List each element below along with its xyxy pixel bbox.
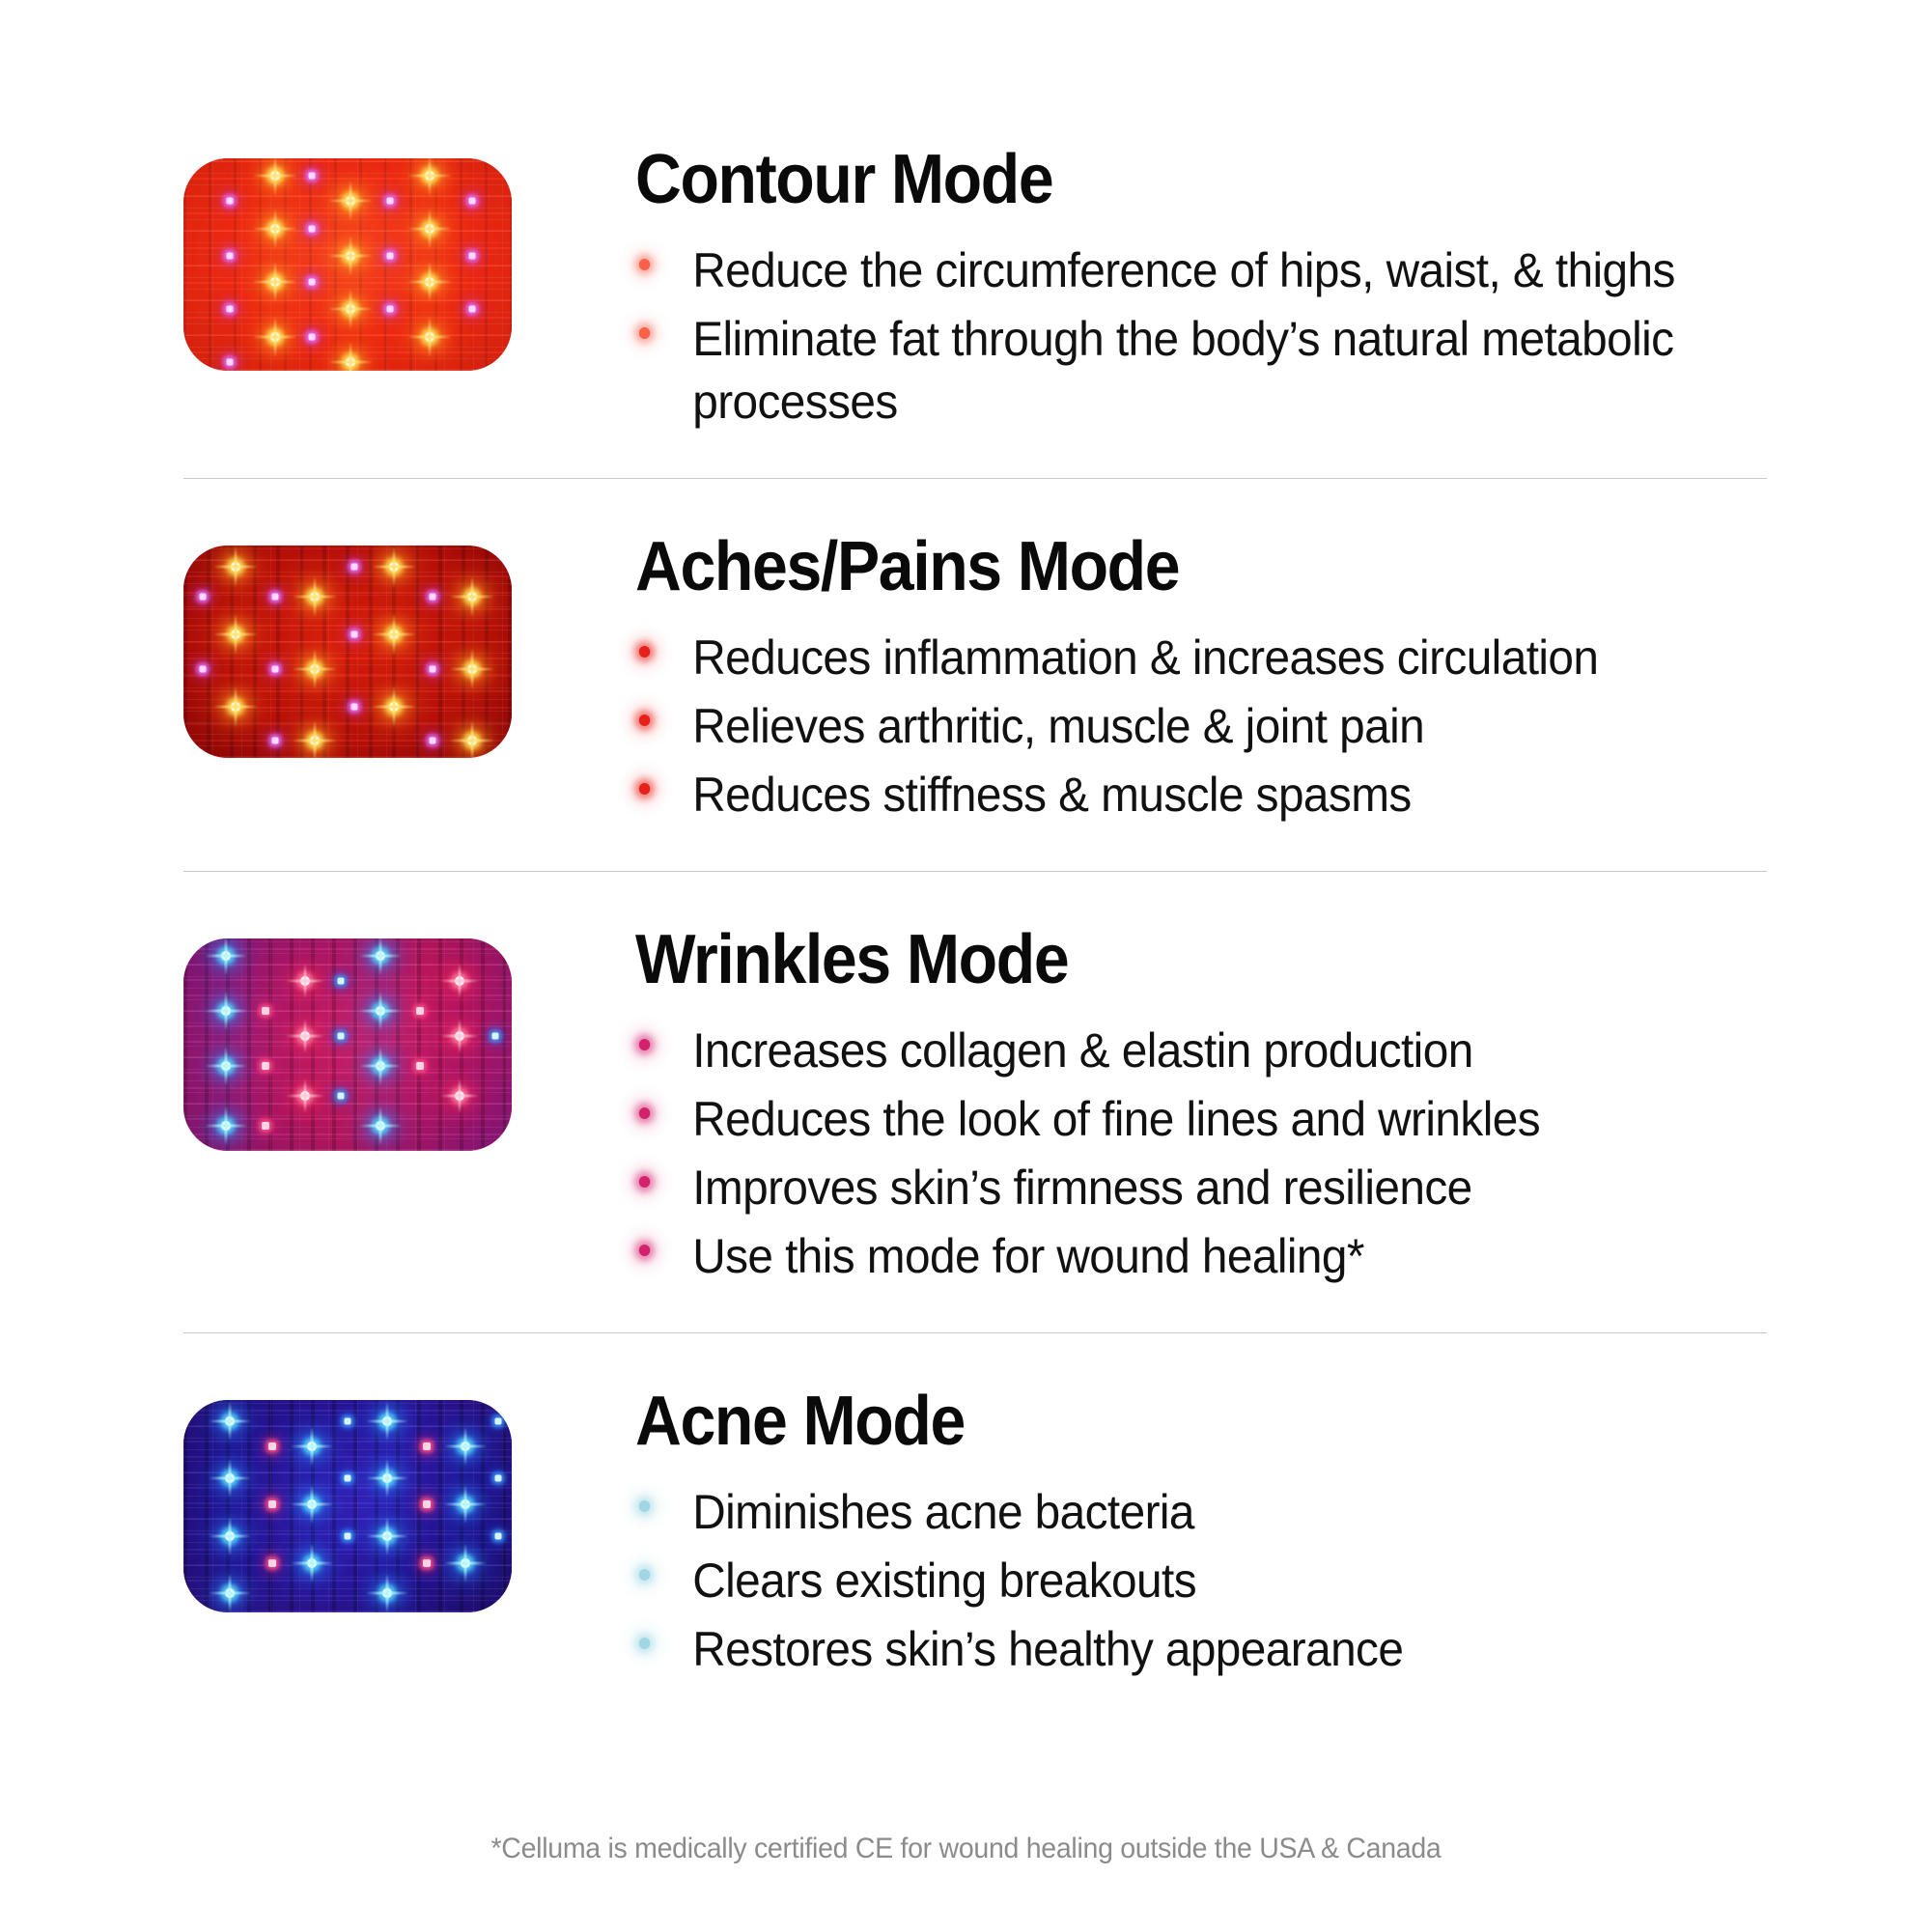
led-star-icon [300, 976, 310, 986]
panel-led-grid [183, 1400, 512, 1612]
led-star-icon [382, 1416, 392, 1426]
list-item-label: Use this mode for wound healing* [692, 1229, 1364, 1283]
bullet-dot-icon [639, 1245, 650, 1256]
bullet-dot-icon [639, 1638, 650, 1649]
led-star-icon [425, 171, 434, 181]
led-dot-icon [469, 306, 476, 313]
list-item: Reduces inflammation & increases circula… [635, 627, 1716, 689]
led-star-icon [376, 1121, 385, 1131]
aches-thumbnail-wrap [183, 532, 521, 758]
led-star-icon [300, 1091, 310, 1101]
list-item-label: Reduces stiffness & muscle spasms [692, 768, 1412, 822]
bullet-dot-icon [639, 1039, 650, 1050]
led-star-icon [346, 357, 355, 367]
led-dot-icon [262, 1062, 269, 1070]
led-dot-icon [268, 1500, 276, 1508]
list-item-label: Increases collagen & elastin production [692, 1023, 1472, 1078]
led-dot-icon [262, 1122, 269, 1130]
led-dot-icon [495, 1532, 502, 1539]
led-dot-icon [268, 1559, 276, 1567]
led-dot-icon [495, 1418, 502, 1425]
bullet-dot-icon [639, 327, 650, 339]
led-star-icon [389, 562, 399, 572]
led-star-icon [389, 702, 399, 712]
panel-led-grid [183, 158, 512, 371]
led-star-icon [382, 1588, 392, 1598]
list-item: Clears existing breakouts [635, 1550, 1716, 1612]
led-dot-icon [416, 1007, 424, 1015]
bullet-dot-icon [639, 1569, 650, 1581]
led-star-icon [270, 224, 280, 234]
mode-section-acne: Acne Mode Diminishes acne bacteria Clear… [183, 1333, 1767, 1725]
acne-thumbnail-wrap [183, 1386, 521, 1612]
led-dot-icon [200, 593, 207, 600]
bullet-dot-icon [639, 1500, 650, 1512]
led-dot-icon [272, 593, 279, 600]
mode-section-aches-pains: Aches/Pains Mode Reduces inflammation & … [183, 479, 1767, 871]
led-dot-icon [308, 278, 315, 285]
led-star-icon [425, 332, 434, 342]
contour-benefit-list: Reduce the circumference of hips, waist,… [635, 239, 1767, 434]
led-dot-icon [350, 564, 357, 571]
led-dot-icon [350, 704, 357, 711]
led-dot-icon [226, 198, 233, 205]
led-star-icon [389, 630, 399, 639]
list-item-label: Reduce the circumference of hips, waist,… [692, 243, 1675, 297]
led-dot-icon [268, 1442, 276, 1450]
led-star-icon [455, 1031, 464, 1041]
led-star-icon [221, 1061, 231, 1071]
led-dot-icon [430, 665, 436, 672]
led-dot-icon [272, 738, 279, 744]
led-dot-icon [423, 1442, 431, 1450]
led-star-icon [376, 1006, 385, 1016]
led-star-icon [270, 277, 280, 287]
mode-comparison-page: Contour Mode Reduce the circumference of… [0, 0, 1932, 1932]
list-item: Eliminate fat through the body’s natural… [635, 308, 1716, 434]
acne-benefit-list: Diminishes acne bacteria Clears existing… [635, 1481, 1767, 1681]
led-star-icon [461, 1442, 470, 1451]
wrinkles-mode-body: Wrinkles Mode Increases collagen & elast… [521, 925, 1767, 1294]
wrinkles-benefit-list: Increases collagen & elastin production … [635, 1020, 1767, 1288]
led-dot-icon [338, 1092, 345, 1099]
list-item: Relieves arthritic, muscle & joint pain [635, 695, 1716, 758]
led-star-icon [225, 1588, 235, 1598]
led-star-icon [221, 1121, 231, 1131]
contour-thumbnail-wrap [183, 145, 521, 371]
magenta-panel-thumbnail [183, 938, 512, 1151]
list-item: Reduce the circumference of hips, waist,… [635, 239, 1716, 302]
list-item-label: Clears existing breakouts [692, 1554, 1196, 1608]
led-star-icon [310, 664, 320, 674]
led-star-icon [307, 1442, 317, 1451]
wrinkles-thumbnail-wrap [183, 925, 521, 1151]
led-dot-icon [262, 1007, 269, 1015]
list-item-label: Restores skin’s healthy appearance [692, 1622, 1403, 1676]
bullet-dot-icon [639, 1176, 650, 1188]
led-star-icon [310, 592, 320, 602]
led-star-icon [455, 1091, 464, 1101]
list-item-label: Eliminate fat through the body’s natural… [692, 312, 1673, 429]
led-dot-icon [387, 306, 394, 313]
led-dot-icon [492, 1033, 499, 1040]
page-title-contour: Contour Mode [635, 145, 1676, 214]
bullet-dot-icon [639, 259, 650, 270]
led-star-icon [300, 1031, 310, 1041]
led-star-icon [221, 951, 231, 961]
led-star-icon [221, 1006, 231, 1016]
led-dot-icon [200, 665, 207, 672]
page-title-aches-pains: Aches/Pains Mode [635, 532, 1676, 602]
led-dot-icon [345, 1475, 351, 1482]
led-star-icon [467, 592, 477, 602]
led-dot-icon [308, 333, 315, 340]
deep-red-panel-thumbnail [183, 546, 512, 758]
led-dot-icon [495, 1475, 502, 1482]
list-item: Reduces the look of fine lines and wrink… [635, 1088, 1716, 1151]
contour-mode-body: Contour Mode Reduce the circumference of… [521, 145, 1767, 439]
led-dot-icon [338, 978, 345, 985]
led-dot-icon [226, 306, 233, 313]
led-star-icon [307, 1499, 317, 1509]
led-star-icon [425, 224, 434, 234]
led-dot-icon [308, 225, 315, 232]
led-dot-icon [350, 631, 357, 638]
led-dot-icon [308, 172, 315, 179]
list-item: Diminishes acne bacteria [635, 1481, 1716, 1544]
list-item: Reduces stiffness & muscle spasms [635, 764, 1716, 826]
led-dot-icon [430, 738, 436, 744]
led-dot-icon [416, 1062, 424, 1070]
led-star-icon [382, 1531, 392, 1541]
red-panel-thumbnail [183, 158, 512, 371]
led-star-icon [382, 1473, 392, 1483]
list-item-label: Improves skin’s firmness and resilience [692, 1161, 1471, 1215]
led-dot-icon [423, 1559, 431, 1567]
led-dot-icon [430, 593, 436, 600]
led-dot-icon [469, 198, 476, 205]
list-item: Use this mode for wound healing* [635, 1225, 1716, 1288]
led-dot-icon [345, 1532, 351, 1539]
led-dot-icon [345, 1418, 351, 1425]
list-item-label: Reduces the look of fine lines and wrink… [692, 1092, 1540, 1146]
led-star-icon [455, 976, 464, 986]
footnote-disclaimer: *Celluma is medically certified CE for w… [48, 1833, 1884, 1865]
led-dot-icon [338, 1033, 345, 1040]
led-dot-icon [423, 1500, 431, 1508]
page-title-wrinkles: Wrinkles Mode [635, 925, 1676, 994]
led-dot-icon [272, 665, 279, 672]
led-dot-icon [387, 198, 394, 205]
led-star-icon [225, 1531, 235, 1541]
bullet-dot-icon [639, 646, 650, 658]
led-star-icon [425, 277, 434, 287]
list-item-label: Reduces inflammation & increases circula… [692, 630, 1598, 685]
led-dot-icon [226, 359, 233, 366]
led-star-icon [376, 1061, 385, 1071]
led-star-icon [307, 1558, 317, 1568]
modes-list: Contour Mode Reduce the circumference of… [183, 0, 1767, 1725]
led-star-icon [467, 736, 477, 745]
panel-led-grid [183, 546, 512, 758]
led-star-icon [346, 251, 355, 261]
bullet-dot-icon [639, 783, 650, 795]
led-star-icon [346, 304, 355, 314]
aches-pains-mode-body: Aches/Pains Mode Reduces inflammation & … [521, 532, 1767, 832]
blue-panel-thumbnail [183, 1400, 512, 1612]
led-star-icon [376, 951, 385, 961]
led-star-icon [231, 630, 240, 639]
led-star-icon [461, 1499, 470, 1509]
led-star-icon [231, 702, 240, 712]
led-star-icon [231, 562, 240, 572]
bullet-dot-icon [639, 714, 650, 726]
led-star-icon [467, 664, 477, 674]
list-item-label: Relieves arthritic, muscle & joint pain [692, 699, 1424, 753]
list-item: Restores skin’s healthy appearance [635, 1618, 1716, 1681]
led-star-icon [225, 1416, 235, 1426]
list-item: Improves skin’s firmness and resilience [635, 1157, 1716, 1219]
list-item: Increases collagen & elastin production [635, 1020, 1716, 1082]
led-dot-icon [387, 253, 394, 260]
led-star-icon [270, 171, 280, 181]
mode-section-wrinkles: Wrinkles Mode Increases collagen & elast… [183, 872, 1767, 1332]
panel-led-grid [183, 938, 512, 1151]
bullet-dot-icon [639, 1107, 650, 1119]
led-dot-icon [226, 253, 233, 260]
mode-section-contour: Contour Mode Reduce the circumference of… [183, 0, 1767, 478]
list-item-label: Diminishes acne bacteria [692, 1485, 1194, 1539]
led-star-icon [461, 1558, 470, 1568]
acne-mode-body: Acne Mode Diminishes acne bacteria Clear… [521, 1386, 1767, 1687]
led-star-icon [346, 196, 355, 206]
page-title-acne: Acne Mode [635, 1386, 1676, 1456]
aches-benefit-list: Reduces inflammation & increases circula… [635, 627, 1767, 826]
led-star-icon [310, 736, 320, 745]
led-star-icon [270, 332, 280, 342]
led-dot-icon [469, 253, 476, 260]
led-star-icon [225, 1473, 235, 1483]
